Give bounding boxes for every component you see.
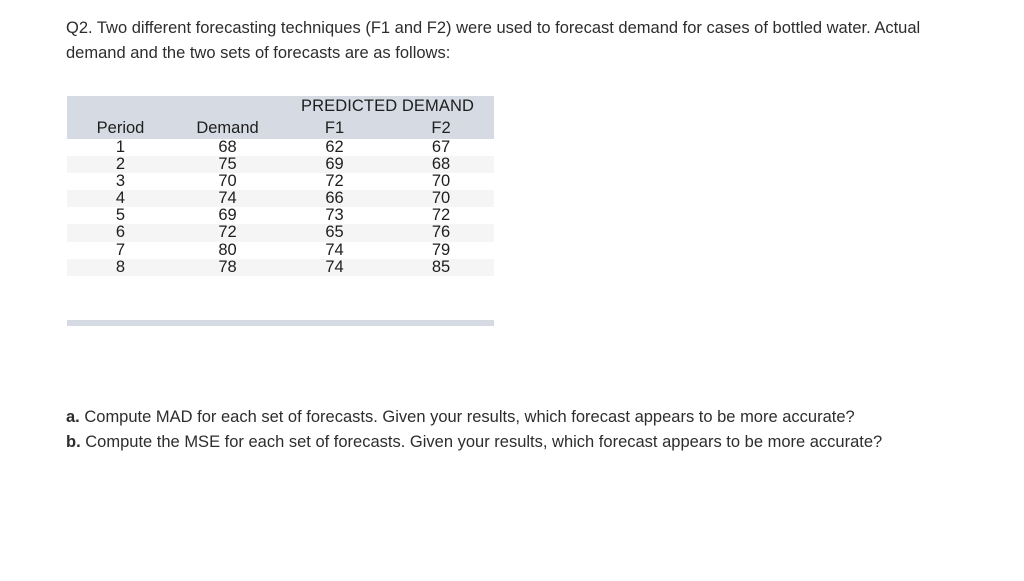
cell-f1: 65 <box>281 224 388 241</box>
table-row: 6 72 65 76 <box>67 224 494 241</box>
table-row: 7 80 74 79 <box>67 242 494 259</box>
cell-period: 6 <box>67 224 174 241</box>
cell-period: 5 <box>67 207 174 224</box>
group-header-spacer-period <box>67 96 174 117</box>
sub-question-b-marker: b. <box>66 433 81 451</box>
cell-demand: 74 <box>174 190 281 207</box>
cell-f2: 79 <box>388 242 494 259</box>
column-header-period: Period <box>67 117 174 139</box>
column-header-f2: F2 <box>388 117 494 139</box>
cell-f1: 74 <box>281 242 388 259</box>
cell-demand: 70 <box>174 173 281 190</box>
cell-period: 1 <box>67 139 174 156</box>
table-row: 8 78 74 85 <box>67 259 494 276</box>
table-body: 1 68 62 67 2 75 69 68 3 70 72 70 4 74 66 <box>67 139 494 276</box>
cell-demand: 80 <box>174 242 281 259</box>
table-row: 4 74 66 70 <box>67 190 494 207</box>
cell-period: 8 <box>67 259 174 276</box>
sub-question-a-text: Compute MAD for each set of forecasts. G… <box>80 408 855 426</box>
cell-f2: 70 <box>388 173 494 190</box>
cell-period: 7 <box>67 242 174 259</box>
table-group-header-row: PREDICTED DEMAND <box>67 96 494 117</box>
cell-period: 4 <box>67 190 174 207</box>
group-header-spacer-demand <box>174 96 281 117</box>
table-footer-bar <box>67 320 494 326</box>
forecast-table-container: PREDICTED DEMAND Period Demand F1 F2 1 6… <box>67 96 494 276</box>
table-header: PREDICTED DEMAND Period Demand F1 F2 <box>67 96 494 139</box>
cell-f1: 74 <box>281 259 388 276</box>
cell-f1: 73 <box>281 207 388 224</box>
cell-f2: 85 <box>388 259 494 276</box>
cell-demand: 78 <box>174 259 281 276</box>
forecast-data-table: PREDICTED DEMAND Period Demand F1 F2 1 6… <box>67 96 494 276</box>
cell-demand: 68 <box>174 139 281 156</box>
cell-f1: 62 <box>281 139 388 156</box>
cell-f2: 76 <box>388 224 494 241</box>
cell-f2: 70 <box>388 190 494 207</box>
cell-f1: 69 <box>281 156 388 173</box>
sub-question-b-text: Compute the MSE for each set of forecast… <box>81 433 883 451</box>
cell-f1: 72 <box>281 173 388 190</box>
cell-f2: 72 <box>388 207 494 224</box>
table-row: 2 75 69 68 <box>67 156 494 173</box>
table-row: 3 70 72 70 <box>67 173 494 190</box>
sub-question-a: a. Compute MAD for each set of forecasts… <box>66 405 942 430</box>
cell-f1: 66 <box>281 190 388 207</box>
sub-question-b: b. Compute the MSE for each set of forec… <box>66 430 942 455</box>
cell-f2: 68 <box>388 156 494 173</box>
cell-period: 2 <box>67 156 174 173</box>
cell-demand: 72 <box>174 224 281 241</box>
cell-demand: 69 <box>174 207 281 224</box>
sub-question-a-marker: a. <box>66 408 80 426</box>
question-intro-text: Q2. Two different forecasting techniques… <box>66 16 942 66</box>
table-column-header-row: Period Demand F1 F2 <box>67 117 494 139</box>
cell-f2: 67 <box>388 139 494 156</box>
column-group-header-predicted-demand: PREDICTED DEMAND <box>281 96 494 117</box>
table-row: 5 69 73 72 <box>67 207 494 224</box>
column-header-demand: Demand <box>174 117 281 139</box>
table-row: 1 68 62 67 <box>67 139 494 156</box>
column-header-f1: F1 <box>281 117 388 139</box>
cell-period: 3 <box>67 173 174 190</box>
cell-demand: 75 <box>174 156 281 173</box>
sub-questions-block: a. Compute MAD for each set of forecasts… <box>66 405 942 454</box>
